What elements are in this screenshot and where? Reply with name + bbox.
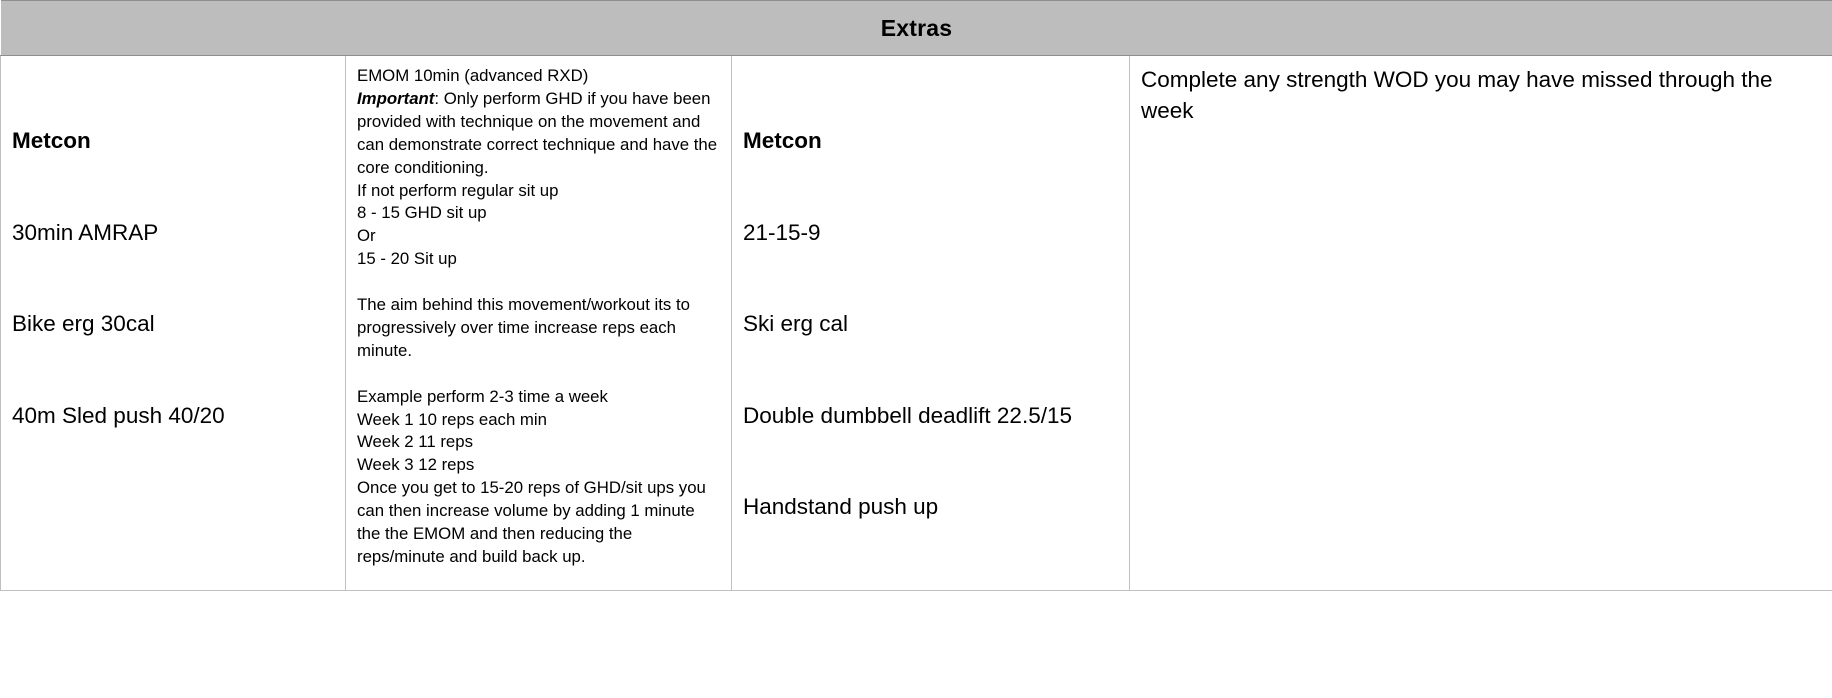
- metcon-1-line-3: 40m Sled push 40/20: [12, 401, 334, 432]
- metcon-2-line-2: Ski erg cal: [743, 309, 1118, 340]
- extras-table: Extras Metcon 30min AMRAP Bike erg 30cal…: [0, 0, 1832, 591]
- emom-aim-paragraph: The aim behind this movement/workout its…: [357, 294, 720, 363]
- table-title: Extras: [1, 1, 1832, 56]
- cell-missed-wod: Complete any strength WOD you may have m…: [1130, 56, 1832, 591]
- cell-metcon-1: Metcon 30min AMRAP Bike erg 30cal 40m Sl…: [1, 56, 346, 591]
- emom-line-or: Or: [357, 225, 720, 248]
- emom-line-ghd-reps: 8 - 15 GHD sit up: [357, 202, 720, 225]
- table-header-row: Extras: [1, 1, 1832, 56]
- metcon-2-block: Metcon 21-15-9 Ski erg cal Double dumbbe…: [743, 65, 1118, 584]
- emom-line-regular-situp: If not perform regular sit up: [357, 180, 720, 203]
- cell-metcon-2: Metcon 21-15-9 Ski erg cal Double dumbbe…: [732, 56, 1130, 591]
- metcon-2-line-4: Handstand push up: [743, 492, 1118, 523]
- emom-title: EMOM 10min (advanced RXD): [357, 65, 720, 88]
- extras-table-page: Extras Metcon 30min AMRAP Bike erg 30cal…: [0, 0, 1832, 698]
- metcon-1-heading: Metcon: [12, 126, 334, 157]
- table-row: Metcon 30min AMRAP Bike erg 30cal 40m Sl…: [1, 56, 1832, 591]
- metcon-2-line-1: 21-15-9: [743, 218, 1118, 249]
- metcon-1-line-1: 30min AMRAP: [12, 218, 334, 249]
- emom-line-situp-reps: 15 - 20 Sit up: [357, 248, 720, 271]
- emom-week-2: Week 2 11 reps: [357, 431, 720, 454]
- emom-week-1: Week 1 10 reps each min: [357, 409, 720, 432]
- missed-wod-text: Complete any strength WOD you may have m…: [1141, 65, 1821, 126]
- metcon-1-block: Metcon 30min AMRAP Bike erg 30cal 40m Sl…: [12, 65, 334, 492]
- important-label: Important: [357, 89, 434, 108]
- metcon-1-line-2: Bike erg 30cal: [12, 309, 334, 340]
- emom-important-note: Important: Only perform GHD if you have …: [357, 88, 720, 180]
- metcon-2-heading: Metcon: [743, 126, 1118, 157]
- cell-emom-notes: EMOM 10min (advanced RXD) Important: Onl…: [346, 56, 732, 591]
- emom-example-heading: Example perform 2-3 time a week: [357, 386, 720, 409]
- emom-notes-block: EMOM 10min (advanced RXD) Important: Onl…: [357, 65, 720, 569]
- emom-spacer-2: [357, 363, 720, 386]
- emom-progression-paragraph: Once you get to 15-20 reps of GHD/sit up…: [357, 477, 720, 569]
- emom-week-3: Week 3 12 reps: [357, 454, 720, 477]
- emom-spacer-1: [357, 271, 720, 294]
- metcon-2-line-3: Double dumbbell deadlift 22.5/15: [743, 401, 1118, 432]
